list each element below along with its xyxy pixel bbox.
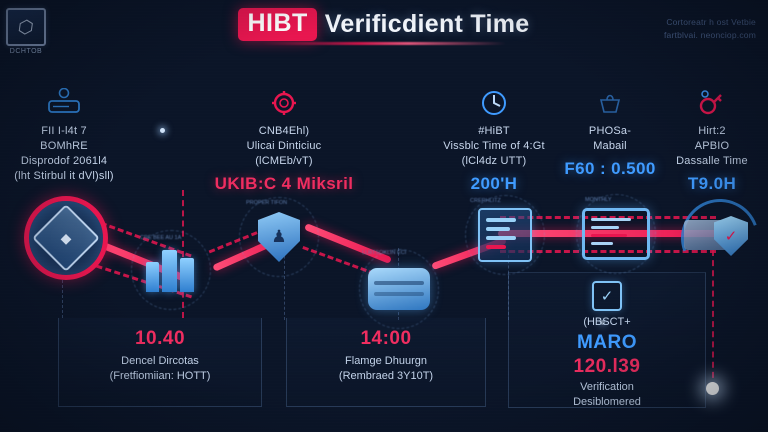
infographic-canvas: ⬡ DCHTOB HIBT Verificdient Time Cortorea… (0, 0, 768, 432)
stat-column-2: CNB4Ehl) Ulicai Dinticiuc (lCMEb/vT) UKI… (204, 86, 364, 194)
bottom-card-3[interactable]: ✓ (HBSCT+ MARO 120.l39 Verification Desi… (508, 272, 706, 408)
clipboard-icon (478, 208, 532, 262)
monitor-icon (582, 208, 650, 260)
bottom-card-value: 120.l39 (509, 356, 705, 378)
bottom-card-value: 14:00 (287, 328, 485, 350)
clipboard-node[interactable]: CRERHLITZ (478, 208, 532, 262)
bottom-card-line2: Desiblomered (509, 395, 705, 410)
safe-node[interactable]: LLRTSOKLIN ECI (368, 268, 430, 310)
bottom-card-value: 10.40 (59, 328, 261, 350)
monitor-node[interactable]: MONTHLY (582, 208, 650, 260)
stat-value: T9.0H (656, 174, 768, 194)
building-icon (144, 248, 198, 292)
shield-refresh-node[interactable]: ✓ (682, 202, 758, 274)
compass-diamond-icon: ◆ (32, 204, 100, 272)
corner-note-line1: Cortoreatr h ost Vetbie (606, 16, 756, 29)
title-brand-chip: HIBT (238, 8, 316, 41)
stat-line-2: BOMhRE (0, 139, 128, 154)
bottom-card-line1: Verification (509, 380, 705, 395)
stat-line-2: APBIO (656, 139, 768, 154)
corner-note: Cortoreatr h ost Vetbie fartblvai. neonc… (606, 16, 756, 42)
title-label: Verificdient Time (325, 10, 530, 39)
bottom-card-line1: Flamge Dhuurgn (287, 354, 485, 369)
stat-line-1: Hirt:2 (656, 124, 768, 139)
bottom-card-2[interactable]: 14:00 Flamge Dhuurgn (Rembraed 3Y10T) (286, 318, 486, 407)
server-drive-icon (0, 86, 128, 120)
accent-dot-1 (160, 128, 165, 133)
building-node[interactable]: CRE BEE AU 1A (144, 248, 198, 292)
bottom-card-1[interactable]: 10.40 Dencel Dircotas (Fretfiomiian: HOT… (58, 318, 262, 407)
bottom-card-subheading: MARO (509, 332, 705, 354)
stat-line-3: Disprodof 2061l4 (0, 154, 128, 169)
glow-endpoint-dot (706, 382, 719, 395)
bottom-card-line1: Dencel Dircotas (59, 354, 261, 369)
stat-column-1: FII I-l4t 7 BOMhRE Disprodof 2061l4 (lht… (0, 86, 128, 184)
logo-wordmark: DCHTOB (6, 48, 46, 55)
gear-icon (204, 86, 364, 120)
stat-line-1: CNB4Ehl) (204, 124, 364, 139)
stat-columns: FII I-l4t 7 BOMhRE Disprodof 2061l4 (lht… (0, 86, 768, 206)
bottom-card-heading: (HBSCT+ (509, 315, 705, 330)
stat-line-3: Dassalle Time (656, 154, 768, 169)
safe-box-icon (368, 268, 430, 310)
corner-note-line2: fartblvai. neonciop.com (606, 29, 756, 42)
bottom-card-line2: (Fretfiomiian: HOTT) (59, 369, 261, 384)
stat-value: UKIB:C 4 Miksril (204, 174, 364, 194)
stat-line-4: (lht Stirbul it dVl)sll) (0, 169, 128, 184)
magnifier-icon: ◆ (24, 196, 108, 280)
shield-node[interactable]: PROPER TIFON ♟ (258, 212, 300, 262)
checkbox-check-icon: ✓ (592, 281, 622, 311)
title-underline (262, 42, 506, 45)
stat-line-1: FII I-l4t 7 (0, 124, 128, 139)
accent-dot-2 (600, 320, 605, 325)
lock-key-icon (656, 86, 768, 120)
shield-person-glyph: ♟ (271, 227, 286, 247)
bottom-card-line2: (Rembraed 3Y10T) (287, 369, 485, 384)
stat-line-3: (lCMEb/vT) (204, 154, 364, 169)
stat-column-5: Hirt:2 APBIO Dassalle Time T9.0H (656, 86, 768, 194)
stat-line-2: Ulicai Dinticiuc (204, 139, 364, 154)
